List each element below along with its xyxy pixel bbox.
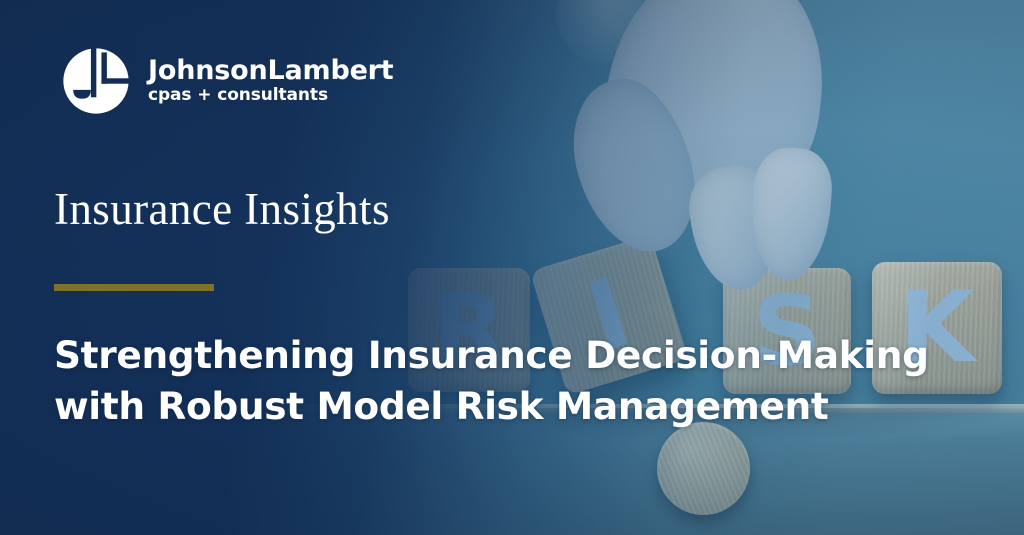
- brand-logo: JohnsonLambert cpas + consultants: [62, 47, 394, 115]
- headline: Strengthening Insurance Decision-Making …: [54, 330, 984, 432]
- headline-line-1: Strengthening Insurance Decision-Making: [54, 330, 984, 381]
- logo-company-name: JohnsonLambert: [148, 57, 394, 85]
- eyebrow-label: Insurance Insights: [54, 183, 390, 235]
- gold-divider-rule: [54, 284, 214, 291]
- logo-wordmark: JohnsonLambert cpas + consultants: [148, 57, 394, 105]
- logo-tagline: cpas + consultants: [148, 86, 394, 105]
- banner-content: JohnsonLambert cpas + consultants Insura…: [0, 0, 1024, 535]
- jl-monogram-icon: [62, 47, 130, 115]
- headline-line-2: with Robust Model Risk Management: [54, 381, 984, 432]
- insurance-insights-banner: R I S K: [0, 0, 1024, 535]
